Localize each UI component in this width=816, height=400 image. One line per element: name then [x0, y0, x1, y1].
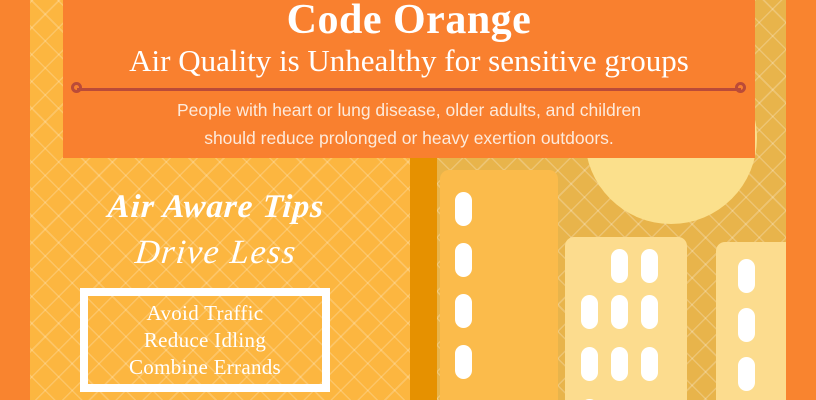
window — [611, 295, 628, 329]
window — [581, 295, 598, 329]
window — [455, 192, 472, 226]
building-left — [440, 170, 558, 400]
building-middle — [565, 237, 687, 400]
tip-item: Reduce Idling — [144, 327, 266, 354]
header-body-text: People with heart or lung disease, older… — [63, 96, 755, 152]
header-body-line-1: People with heart or lung disease, older… — [177, 100, 641, 120]
code-orange-infographic: Code Orange Air Quality is Unhealthy for… — [0, 0, 816, 400]
divider-rule — [77, 88, 741, 91]
right-frame-bar — [786, 0, 816, 400]
left-frame-bar — [0, 0, 30, 400]
tips-box: Avoid Traffic Reduce Idling Combine Erra… — [80, 288, 330, 392]
header-panel: Code Orange Air Quality is Unhealthy for… — [63, 0, 755, 158]
window — [641, 347, 658, 381]
window — [455, 294, 472, 328]
tip-item: Combine Errands — [129, 354, 281, 381]
window — [611, 347, 628, 381]
page-title: Code Orange — [63, 0, 755, 42]
window — [738, 357, 755, 391]
window — [738, 308, 755, 342]
tips-subheading: Drive Less — [74, 231, 359, 275]
tip-item: Avoid Traffic — [147, 300, 264, 327]
window — [455, 345, 472, 379]
divider-dot-left-icon — [71, 82, 82, 93]
window — [611, 249, 628, 283]
header-body-line-2: should reduce prolonged or heavy exertio… — [204, 128, 614, 148]
page-subtitle: Air Quality is Unhealthy for sensitive g… — [63, 42, 755, 78]
window — [455, 243, 472, 277]
window — [581, 347, 598, 381]
window — [641, 249, 658, 283]
tips-heading: Air Aware Tips — [75, 186, 358, 228]
divider-dot-right-icon — [735, 82, 746, 93]
window — [738, 259, 755, 293]
window — [641, 295, 658, 329]
